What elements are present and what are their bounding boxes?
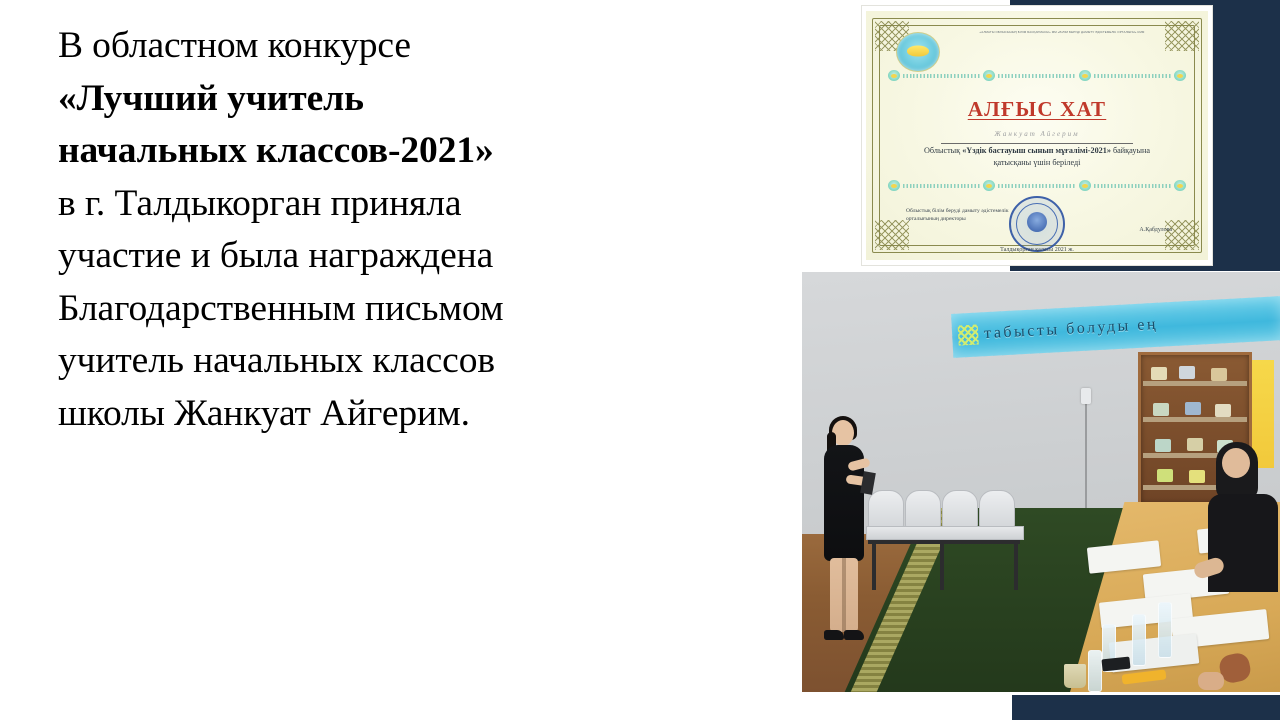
banner-text: табысты болуды ең — [984, 316, 1159, 343]
official-stamp-icon — [1009, 196, 1065, 252]
chair-leg — [940, 542, 944, 590]
separator-dot-icon — [888, 70, 900, 81]
photo-chair-row — [866, 490, 1028, 600]
shelf-item — [1151, 367, 1167, 380]
slide-canvas: В областном конкурсе «Лучший учитель нач… — [0, 0, 1280, 720]
slide-body-text: В областном конкурсе «Лучший учитель нач… — [58, 20, 723, 440]
certificate-signatory-title: Облыстық білім беруді дамыту әдістемелік… — [906, 207, 1026, 223]
text-line-3: начальных классов-2021» — [58, 125, 723, 178]
separator-dot-icon — [1174, 180, 1186, 191]
shelf-item — [1157, 469, 1173, 482]
paper-sheet — [1087, 540, 1161, 573]
text-line-4: в г. Талдыкорган приняла — [58, 178, 723, 231]
separator-line — [998, 74, 1075, 78]
certificate-title: АЛҒЫС ХАТ — [866, 97, 1208, 122]
jury-body — [1208, 494, 1278, 592]
chair-seat — [866, 526, 1024, 540]
shelf-item — [1153, 403, 1169, 416]
text-line-1: В областном конкурсе — [58, 20, 723, 73]
shelf-item — [1179, 366, 1195, 379]
accent-block-bottom-right — [1012, 695, 1280, 720]
chair-leg — [1014, 542, 1018, 590]
text-line-8: школы Жанкуат Айгерим. — [58, 388, 723, 441]
certificate-image: «АЛМАТЫ ОБЛЫСЫНЫҢ БІЛІМ БАСҚАРМАСЫ» ММ «… — [862, 6, 1212, 265]
shelf-item — [1155, 439, 1171, 452]
ornament-corner-top-right-icon — [1165, 21, 1199, 51]
jury-2-hand — [1198, 672, 1224, 690]
chair-rail — [868, 540, 1020, 544]
certificate-signatory-name: А.Қабдулова — [1139, 227, 1172, 233]
certificate-separator-bottom — [888, 179, 1186, 192]
water-bottle — [1158, 602, 1172, 658]
ornament-corner-bottom-right-icon — [1165, 220, 1199, 250]
shelf-item — [1215, 404, 1231, 417]
separator-dot-icon — [888, 180, 900, 191]
text-line-6: Благодарственным письмом — [58, 283, 723, 336]
photo-jury-member — [1188, 448, 1280, 628]
certificate-body-contest: «Үздік бастауыш сынып мұғалімі-2021» — [962, 146, 1111, 155]
separator-line — [1094, 184, 1171, 188]
chair-back — [979, 490, 1015, 528]
presenter-shoe — [844, 630, 864, 640]
separator-dot-icon — [1079, 70, 1091, 81]
certificate-recipient-line: Жанкуат Айгерим — [941, 131, 1133, 144]
separator-dot-icon — [1174, 70, 1186, 81]
separator-line — [1094, 74, 1171, 78]
cup — [1064, 664, 1086, 688]
certificate-city-year: Талдықорған қаласы 2021 ж. — [866, 247, 1208, 253]
shelf-item — [1211, 368, 1227, 381]
separator-line — [903, 74, 980, 78]
text-line-2: «Лучший учитель — [58, 73, 723, 126]
certificate-separator-top — [888, 69, 1186, 82]
photo-jury-member-2 — [1186, 636, 1256, 690]
certificate-body-line2: қатысқаны үшін беріледі — [888, 157, 1186, 169]
shelf-item — [1185, 402, 1201, 415]
certificate-recipient-name: Жанкуат Айгерим — [941, 130, 1133, 138]
separator-line — [998, 184, 1075, 188]
chair-back — [905, 490, 941, 528]
certificate-body-text: Облыстық «Үздік бастауыш сынып мұғалімі-… — [888, 145, 1186, 169]
certificate-organization-line: «АЛМАТЫ ОБЛЫСЫНЫҢ БІЛІМ БАСҚАРМАСЫ» ММ «… — [938, 30, 1186, 34]
separator-dot-icon — [983, 180, 995, 191]
shelf-plank — [1143, 381, 1247, 386]
water-bottle — [1132, 614, 1146, 666]
presenter-shoe — [824, 630, 844, 640]
ornament-corner-bottom-left-icon — [875, 220, 909, 250]
presenter-legs — [830, 558, 858, 632]
chair-back — [942, 490, 978, 528]
certificate-body-suffix: байқауына — [1111, 146, 1150, 155]
certificate-paper: «АЛМАТЫ ОБЛЫСЫНЫҢ БІЛІМ БАСҚАРМАСЫ» ММ «… — [866, 11, 1208, 260]
separator-line — [903, 184, 980, 188]
shelf-plank — [1143, 417, 1247, 422]
event-photograph: табысты болуды ең — [802, 272, 1280, 692]
certificate-body-prefix: Облыстық — [924, 146, 962, 155]
jury-head — [1222, 448, 1250, 478]
banner-ornament-icon — [958, 325, 979, 346]
text-line-7: учитель начальных классов — [58, 335, 723, 388]
text-line-5: участие и была награждена — [58, 230, 723, 283]
separator-dot-icon — [1079, 180, 1091, 191]
water-bottle — [1088, 650, 1102, 692]
kazakhstan-emblem-icon — [896, 32, 940, 72]
photo-presenter — [818, 420, 880, 660]
separator-dot-icon — [983, 70, 995, 81]
presenter-folder — [860, 471, 876, 495]
